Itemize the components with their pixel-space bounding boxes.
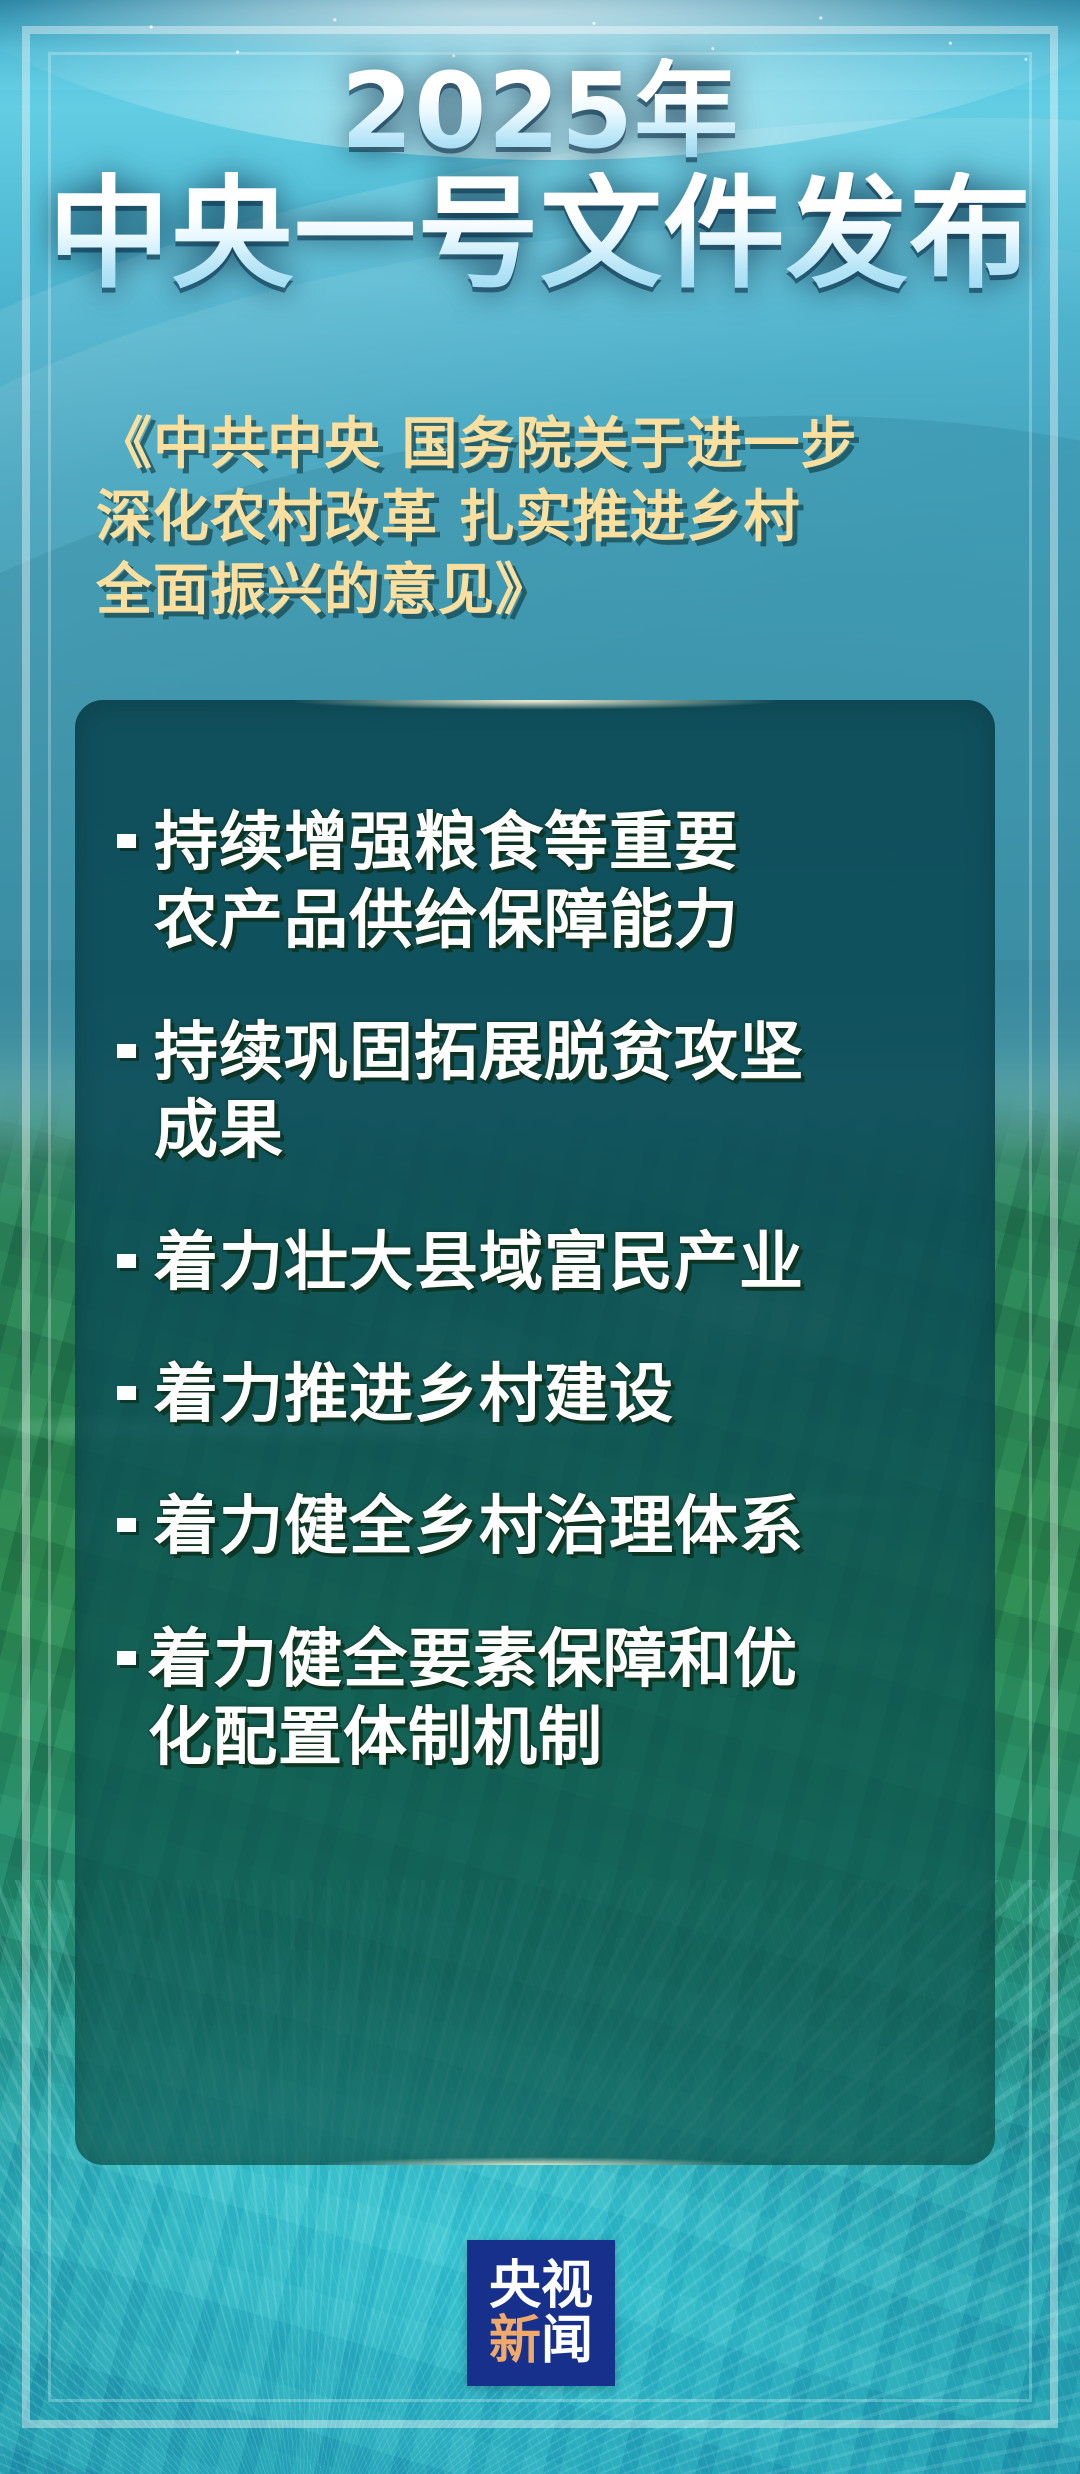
list-item-line: 持续巩固拓展脱贫攻坚	[154, 1016, 804, 1090]
list-item: 持续巩固拓展脱贫攻坚 成果	[109, 1014, 961, 1170]
logo-char-xin: 新	[489, 2314, 541, 2369]
list-item-line: 着力健全乡村治理体系	[154, 1490, 804, 1564]
logo-char-wen: 闻	[541, 2314, 593, 2369]
panel-bottom-glow	[225, 2151, 845, 2165]
list-item-line: 成果	[154, 1094, 284, 1168]
list-item-line: 持续增强粮食等重要	[154, 806, 739, 880]
logo-char-yang: 央	[489, 2259, 541, 2314]
list-item: 着力健全乡村治理体系	[109, 1488, 961, 1566]
list-item: 着力壮大县域富民产业	[109, 1224, 961, 1302]
square-bullet-icon	[117, 834, 136, 848]
square-bullet-icon	[117, 1386, 136, 1400]
list-item: 着力推进乡村建设	[109, 1356, 961, 1434]
list-item: 持续增强粮食等重要 农产品供给保障能力	[109, 804, 961, 960]
square-bullet-icon	[117, 1044, 136, 1058]
document-name-line: 深化农村改革 扎实推进乡村	[96, 481, 896, 554]
list-item-line: 化配置体制机制	[148, 1701, 603, 1775]
document-name-line: 全面振兴的意见》	[96, 554, 896, 627]
list-item-text: 着力壮大县域富民产业	[154, 1224, 804, 1302]
list-item-text: 着力健全乡村治理体系	[154, 1488, 804, 1566]
list-item: 着力健全要素保障和优 化配置体制机制	[109, 1621, 961, 1777]
title-block: 2025年 中央一号文件发布	[0, 58, 1080, 297]
cctv-news-logo: 央 视 新 闻	[467, 2240, 615, 2386]
logo-line-1: 央 视	[489, 2259, 593, 2314]
highlights-panel: 持续增强粮食等重要 农产品供给保障能力 持续巩固拓展脱贫攻坚 成果 着力壮大县域…	[75, 700, 995, 2165]
logo-char-shi: 视	[541, 2259, 593, 2314]
poster-canvas: 2025年 中央一号文件发布 《中共中央 国务院关于进一步 深化农村改革 扎实推…	[0, 0, 1080, 2474]
list-item-line: 着力壮大县域富民产业	[154, 1226, 804, 1300]
list-item-line: 农产品供给保障能力	[154, 884, 739, 958]
document-name-line: 《中共中央 国务院关于进一步	[96, 408, 896, 481]
logo-line-2: 新 闻	[489, 2314, 593, 2369]
highlights-list: 持续增强粮食等重要 农产品供给保障能力 持续巩固拓展脱贫攻坚 成果 着力壮大县域…	[75, 700, 995, 1831]
document-name: 《中共中央 国务院关于进一步 深化农村改革 扎实推进乡村 全面振兴的意见》	[96, 408, 896, 626]
list-item-line: 着力健全要素保障和优	[148, 1623, 798, 1697]
list-item-text: 持续增强粮食等重要 农产品供给保障能力	[154, 804, 739, 960]
page-title-year: 2025年	[0, 58, 1080, 164]
list-item-text: 着力推进乡村建设	[154, 1356, 674, 1434]
square-bullet-icon	[117, 1254, 136, 1268]
list-item-line: 着力推进乡村建设	[154, 1358, 674, 1432]
square-bullet-icon	[117, 1518, 136, 1532]
page-title-main: 中央一号文件发布	[0, 172, 1080, 296]
list-item-text: 持续巩固拓展脱贫攻坚 成果	[154, 1014, 804, 1170]
square-bullet-icon	[117, 1651, 136, 1665]
list-item-text: 着力健全要素保障和优 化配置体制机制	[148, 1621, 798, 1777]
